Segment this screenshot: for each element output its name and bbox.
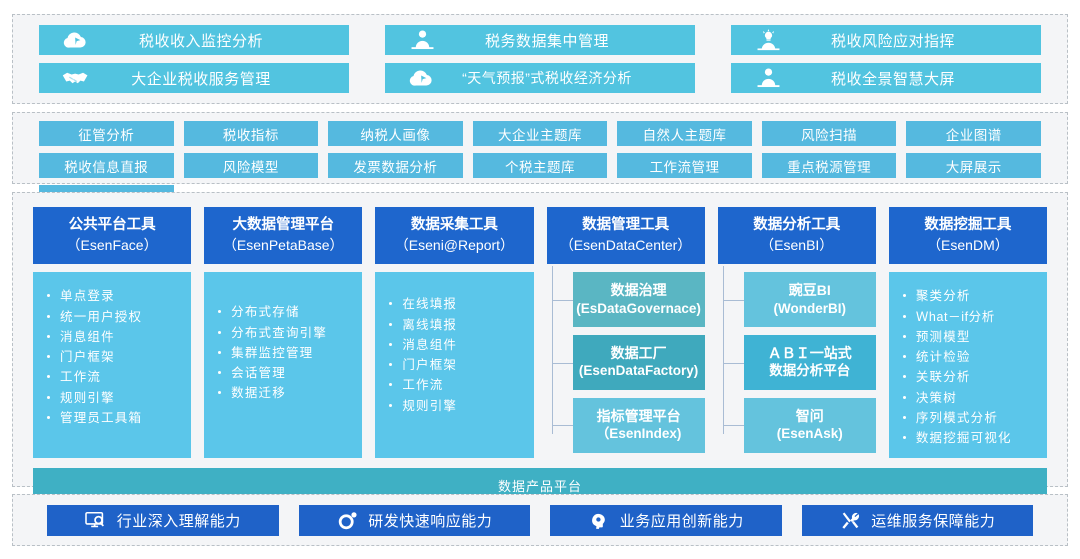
product-columns: 公共平台工具 （EsenFace） 单点登录 统一用户授权 消息组件 门户框架 …: [33, 207, 1047, 458]
feature-item: 规则引擎: [385, 396, 527, 416]
person-idea-icon: [751, 27, 785, 53]
feature-item: 离线填报: [385, 315, 527, 335]
app-pill[interactable]: 税收全景智慧大屏: [731, 63, 1041, 93]
subproduct-subtitle: （EsenIndex): [575, 425, 703, 443]
tags-grid: 征管分析 税收指标 纳税人画像 大企业主题库 自然人主题库 风险扫描 企业图谱 …: [13, 113, 1067, 183]
tag-item[interactable]: 工作流管理: [617, 153, 752, 178]
capability-label: 业务应用创新能力: [620, 510, 744, 531]
feature-item: 分布式存储: [214, 302, 356, 322]
feature-list: 分布式存储 分布式查询引擎 集群监控管理 会话管理 数据迁移: [214, 302, 356, 403]
tag-item[interactable]: 大屏展示: [906, 153, 1041, 178]
feature-item: 规则引擎: [43, 388, 185, 408]
product-architecture-diagram: 税收收入监控分析 税务数据集中管理 税收风险应对指挥 大企业税收服务管理: [0, 0, 1080, 559]
product-column-subtitle: （EsenDataCenter）: [549, 236, 703, 255]
subproduct-box[interactable]: ＡＢＩ一站式 数据分析平台: [744, 335, 876, 390]
product-column-title: 数据管理工具: [582, 217, 669, 233]
product-column-title: 数据采集工具: [411, 217, 498, 233]
feature-list: 在线填报 离线填报 消息组件 门户框架 工作流 规则引擎: [385, 294, 527, 416]
tag-item[interactable]: 税收指标: [184, 121, 319, 146]
app-pill-label: 税收全景智慧大屏: [785, 68, 1035, 89]
product-column-subtitle: （EsenBI）: [720, 236, 874, 255]
capability-item[interactable]: 运维服务保障能力: [802, 505, 1034, 536]
subproduct-title: 指标管理平台: [597, 408, 681, 424]
capability-item[interactable]: 业务应用创新能力: [550, 505, 782, 536]
feature-list: 聚类分析 Ｗhat－if分析 预测模型 统计检验 关联分析 决策树 序列模式分析…: [899, 286, 1041, 448]
tag-item[interactable]: 征管分析: [39, 121, 174, 146]
tag-item[interactable]: 重点税源管理: [762, 153, 897, 178]
feature-item: 工作流: [385, 375, 527, 395]
subproduct-box[interactable]: 豌豆BI (WonderBI): [744, 272, 876, 327]
subproduct-subtitle: (EsDataGovernace): [575, 300, 703, 318]
feature-item: 序列模式分析: [899, 408, 1041, 428]
feature-item: 聚类分析: [899, 286, 1041, 306]
feature-item: 管理员工具箱: [43, 408, 185, 428]
capability-label: 研发快速响应能力: [368, 510, 492, 531]
subproduct-list: 数据治理 (EsDataGovernace) 数据工厂 (EsenDataFac…: [547, 272, 705, 458]
product-column-body: 单点登录 统一用户授权 消息组件 门户框架 工作流 规则引擎 管理员工具箱: [33, 272, 191, 458]
feature-item: 门户框架: [43, 347, 185, 367]
tag-item[interactable]: 大企业主题库: [473, 121, 608, 146]
feature-item: 分布式查询引擎: [214, 323, 356, 343]
feature-item: 消息组件: [43, 327, 185, 347]
product-column-esenbi: 数据分析工具 （EsenBI） 豌豆BI (WonderBI) ＡＢＩ一站式 数…: [718, 207, 876, 458]
monitor-search-icon: [85, 510, 107, 532]
capabilities-grid: 行业深入理解能力 研发快速响应能力 业务应用创新能力 运维服务保障能力: [13, 495, 1067, 545]
gear-icon: [336, 510, 358, 532]
product-column-body: 豌豆BI (WonderBI) ＡＢＩ一站式 数据分析平台 智问 (EsenAs…: [718, 264, 876, 458]
product-column-header[interactable]: 数据挖掘工具 （EsenDM）: [889, 207, 1047, 264]
applications-section: 税收收入监控分析 税务数据集中管理 税收风险应对指挥 大企业税收服务管理: [12, 14, 1068, 104]
product-column-subtitle: （EsenFace）: [35, 236, 189, 255]
product-column-title: 数据分析工具: [753, 217, 840, 233]
product-column-header[interactable]: 大数据管理平台 （EsenPetaBase）: [204, 207, 362, 264]
tag-item[interactable]: 风险扫描: [762, 121, 897, 146]
feature-item: 在线填报: [385, 294, 527, 314]
feature-item: 决策树: [899, 388, 1041, 408]
tag-item[interactable]: 个税主题库: [473, 153, 608, 178]
product-column-title: 大数据管理平台: [232, 217, 334, 233]
subproduct-title: 豌豆BI: [789, 282, 831, 298]
subproduct-subtitle: (EsenDataFactory): [575, 362, 703, 380]
applications-grid: 税收收入监控分析 税务数据集中管理 税收风险应对指挥 大企业税收服务管理: [13, 15, 1067, 103]
person-data-icon: [405, 27, 439, 53]
subproduct-subtitle: (WonderBI): [746, 300, 874, 318]
tools-icon: [839, 510, 861, 532]
feature-list: 单点登录 统一用户授权 消息组件 门户框架 工作流 规则引擎 管理员工具箱: [43, 286, 185, 428]
app-pill-label: 大企业税收服务管理: [93, 68, 343, 89]
tag-item[interactable]: 自然人主题库: [617, 121, 752, 146]
subproduct-title: 数据治理: [611, 282, 667, 298]
cloud-analytics-icon: [405, 65, 439, 91]
capability-label: 运维服务保障能力: [871, 510, 995, 531]
app-pill-label: 税收风险应对指挥: [785, 30, 1035, 51]
product-column-esenface: 公共平台工具 （EsenFace） 单点登录 统一用户授权 消息组件 门户框架 …: [33, 207, 191, 458]
product-column-body: 数据治理 (EsDataGovernace) 数据工厂 (EsenDataFac…: [547, 264, 705, 458]
product-column-header[interactable]: 数据管理工具 （EsenDataCenter）: [547, 207, 705, 264]
handshake-icon: [59, 65, 93, 91]
product-column-esendatacenter: 数据管理工具 （EsenDataCenter） 数据治理 (EsDataGove…: [547, 207, 705, 458]
product-column-body: 聚类分析 Ｗhat－if分析 预测模型 统计检验 关联分析 决策树 序列模式分析…: [889, 272, 1047, 458]
subproduct-subtitle: (EsenAsk): [746, 425, 874, 443]
feature-item: 会话管理: [214, 363, 356, 383]
tag-item[interactable]: 纳税人画像: [328, 121, 463, 146]
tag-item[interactable]: 企业图谱: [906, 121, 1041, 146]
tag-item[interactable]: 发票数据分析: [328, 153, 463, 178]
feature-item: 单点登录: [43, 286, 185, 306]
products-wrapper: 公共平台工具 （EsenFace） 单点登录 统一用户授权 消息组件 门户框架 …: [13, 193, 1067, 486]
product-column-header[interactable]: 数据采集工具 （Eseni@Report）: [375, 207, 533, 264]
feature-item: 统一用户授权: [43, 307, 185, 327]
app-pill[interactable]: 大企业税收服务管理: [39, 63, 349, 93]
head-idea-icon: [588, 510, 610, 532]
app-pill[interactable]: “天气预报”式税收经济分析: [385, 63, 695, 93]
product-column-header[interactable]: 数据分析工具 （EsenBI）: [718, 207, 876, 264]
cloud-analytics-icon: [59, 27, 93, 53]
product-column-esenpetabase: 大数据管理平台 （EsenPetaBase） 分布式存储 分布式查询引擎 集群监…: [204, 207, 362, 458]
subproduct-box[interactable]: 数据工厂 (EsenDataFactory): [573, 335, 705, 390]
product-column-esenireport: 数据采集工具 （Eseni@Report） 在线填报 离线填报 消息组件 门户框…: [375, 207, 533, 458]
feature-item: Ｗhat－if分析: [899, 307, 1041, 327]
feature-item: 统计检验: [899, 347, 1041, 367]
subproduct-list: 豌豆BI (WonderBI) ＡＢＩ一站式 数据分析平台 智问 (EsenAs…: [718, 272, 876, 458]
feature-item: 预测模型: [899, 327, 1041, 347]
subproduct-subtitle: 数据分析平台: [746, 362, 874, 380]
product-column-subtitle: （Eseni@Report）: [377, 236, 531, 255]
product-column-body: 分布式存储 分布式查询引擎 集群监控管理 会话管理 数据迁移: [204, 272, 362, 458]
feature-item: 门户框架: [385, 355, 527, 375]
product-column-title: 数据挖掘工具: [924, 217, 1011, 233]
app-pill-label: 税收收入监控分析: [93, 30, 343, 51]
subproduct-box[interactable]: 智问 (EsenAsk): [744, 398, 876, 453]
feature-item: 关联分析: [899, 367, 1041, 387]
capabilities-section: 行业深入理解能力 研发快速响应能力 业务应用创新能力 运维服务保障能力: [12, 494, 1068, 546]
products-section: 公共平台工具 （EsenFace） 单点登录 统一用户授权 消息组件 门户框架 …: [12, 192, 1068, 487]
feature-item: 集群监控管理: [214, 343, 356, 363]
subproduct-title: ＡＢＩ一站式: [768, 345, 852, 361]
capability-item[interactable]: 研发快速响应能力: [299, 505, 531, 536]
product-column-esendm: 数据挖掘工具 （EsenDM） 聚类分析 Ｗhat－if分析 预测模型 统计检验…: [889, 207, 1047, 458]
app-pill-label: 税务数据集中管理: [439, 30, 689, 51]
capability-tags-section: 征管分析 税收指标 纳税人画像 大企业主题库 自然人主题库 风险扫描 企业图谱 …: [12, 112, 1068, 184]
subproduct-title: 智问: [796, 408, 824, 424]
app-pill-label: “天气预报”式税收经济分析: [439, 68, 689, 88]
tag-item[interactable]: 税收信息直报: [39, 153, 174, 178]
feature-item: 数据迁移: [214, 383, 356, 403]
person-screen-icon: [751, 65, 785, 91]
subproduct-title: 数据工厂: [611, 345, 667, 361]
app-pill[interactable]: 税收风险应对指挥: [731, 25, 1041, 55]
product-column-header[interactable]: 公共平台工具 （EsenFace）: [33, 207, 191, 264]
product-column-subtitle: （EsenPetaBase）: [206, 236, 360, 255]
product-column-subtitle: （EsenDM）: [891, 236, 1045, 255]
capability-label: 行业深入理解能力: [117, 510, 241, 531]
feature-item: 工作流: [43, 367, 185, 387]
subproduct-box[interactable]: 指标管理平台 （EsenIndex): [573, 398, 705, 453]
capability-item[interactable]: 行业深入理解能力: [47, 505, 279, 536]
product-column-body: 在线填报 离线填报 消息组件 门户框架 工作流 规则引擎: [375, 272, 533, 458]
tag-item[interactable]: 风险模型: [184, 153, 319, 178]
feature-item: 消息组件: [385, 335, 527, 355]
app-pill[interactable]: 税收收入监控分析: [39, 25, 349, 55]
app-pill[interactable]: 税务数据集中管理: [385, 25, 695, 55]
product-column-title: 公共平台工具: [69, 217, 156, 233]
subproduct-box[interactable]: 数据治理 (EsDataGovernace): [573, 272, 705, 327]
feature-item: 数据挖掘可视化: [899, 428, 1041, 448]
